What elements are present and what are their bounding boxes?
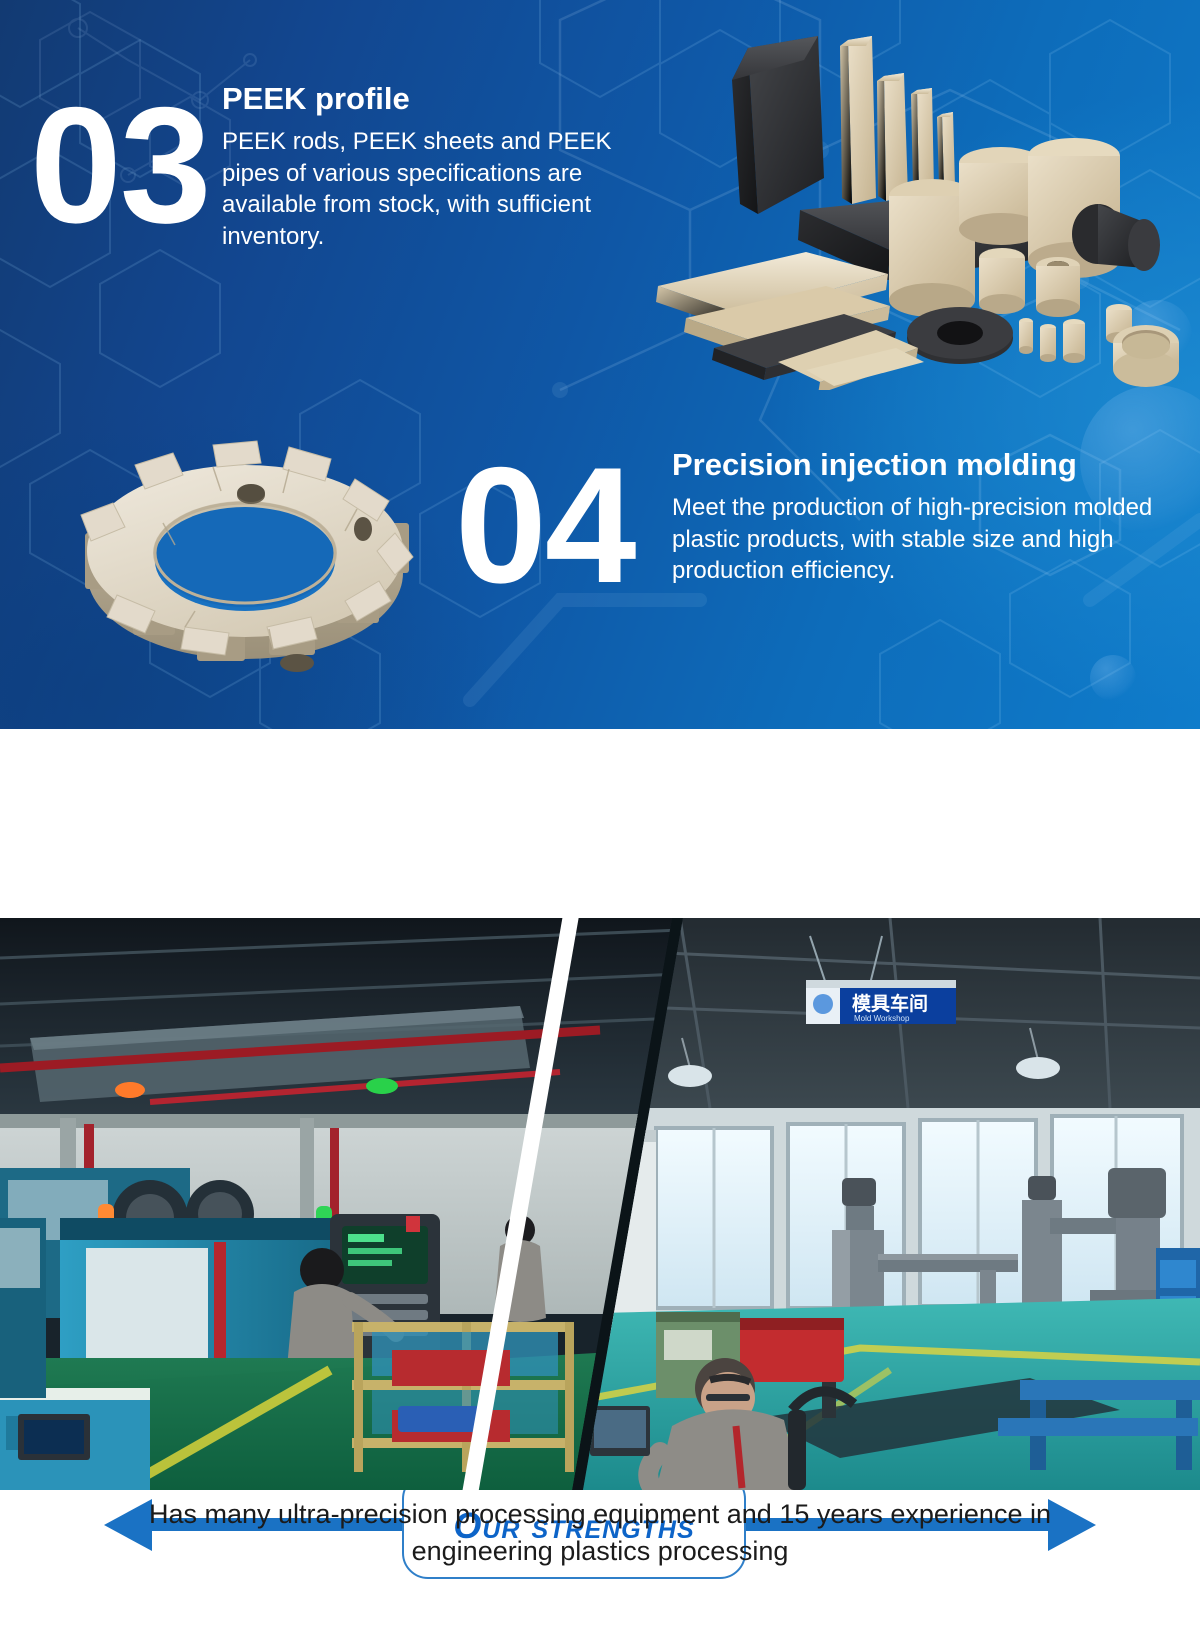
workshop-photo-strip: 模具车间 Mold Workshop: [0, 918, 1200, 1490]
feature-text-03: PEEK profile PEEK rods, PEEK sheets and …: [222, 82, 642, 253]
feature-block-03: 03 PEEK profile PEEK rods, PEEK sheets a…: [0, 82, 640, 352]
our-strengths-band: Our strengths: [0, 729, 1200, 918]
cnc-workshop-photo: [0, 918, 680, 1490]
promo-page: 03 PEEK profile PEEK rods, PEEK sheets a…: [0, 0, 1200, 1628]
sign-english-text: Mold Workshop: [854, 1014, 910, 1023]
feature-body-04: Meet the production of high-precision mo…: [672, 492, 1172, 587]
feature-body-03: PEEK rods, PEEK sheets and PEEK pipes of…: [222, 126, 642, 253]
feature-number-03: 03: [30, 90, 210, 242]
feature-block-04: 04 Precision injection molding Meet the …: [0, 440, 1200, 680]
feature-title-04: Precision injection molding: [672, 448, 1172, 482]
feature-title-03: PEEK profile: [222, 82, 642, 116]
peek-profile-product-image: [628, 18, 1198, 390]
feature-text-04: Precision injection molding Meet the pro…: [672, 448, 1172, 587]
bottom-caption: Has many ultra-precision processing equi…: [0, 1496, 1200, 1569]
features-blue-panel: 03 PEEK profile PEEK rods, PEEK sheets a…: [0, 0, 1200, 729]
sign-chinese-text: 模具车间: [852, 992, 928, 1015]
feature-number-04: 04: [455, 450, 635, 602]
